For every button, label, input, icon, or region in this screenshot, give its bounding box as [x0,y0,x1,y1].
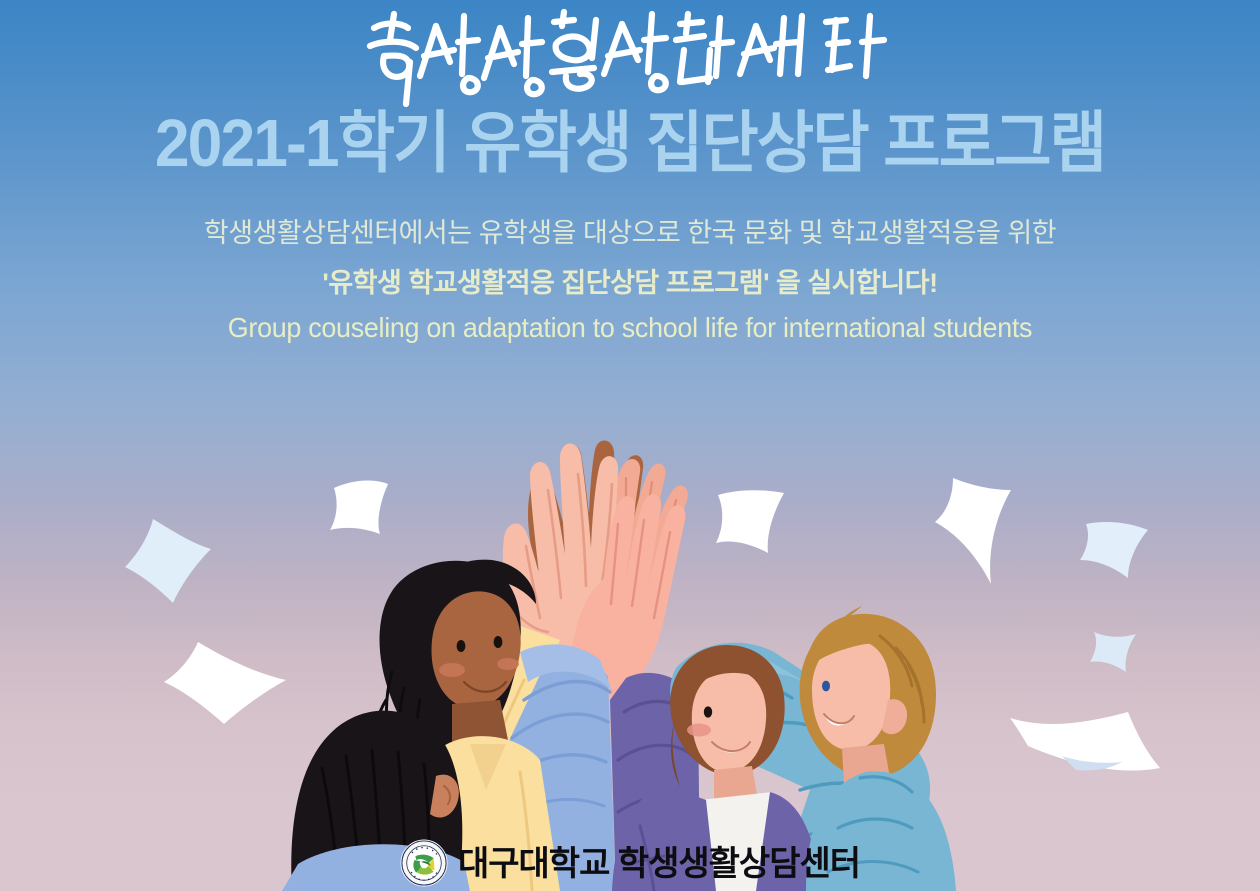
description-line-1: 학생생활상담센터에서는 유학생을 대상으로 한국 문화 및 학교생활적응을 위한 [0,211,1260,250]
daegu-university-logo [400,839,448,887]
poster-text-block: 2021-1학기 유학생 집단상담 프로그램 학생생활상담센터에서는 유학생을 … [0,0,1260,344]
footer-organization-label: 대구대학교 학생생활상담센터 [458,847,860,881]
footer-bar: 대구대학교 학생생활상담센터 [0,835,1260,891]
description-line-2: '유학생 학교생활적응 집단상담 프로그램' 을 실시합니다! [0,261,1260,300]
page-title-headline: 2021-1학기 유학생 집단상담 프로그램 [44,110,1216,177]
script-title-glyphs [350,0,910,110]
center-script-title [0,0,1260,110]
description-english: Group couseling on adaptation to school … [25,312,1235,344]
poster-canvas: 2021-1학기 유학생 집단상담 프로그램 학생생활상담센터에서는 유학생을 … [0,0,1260,891]
